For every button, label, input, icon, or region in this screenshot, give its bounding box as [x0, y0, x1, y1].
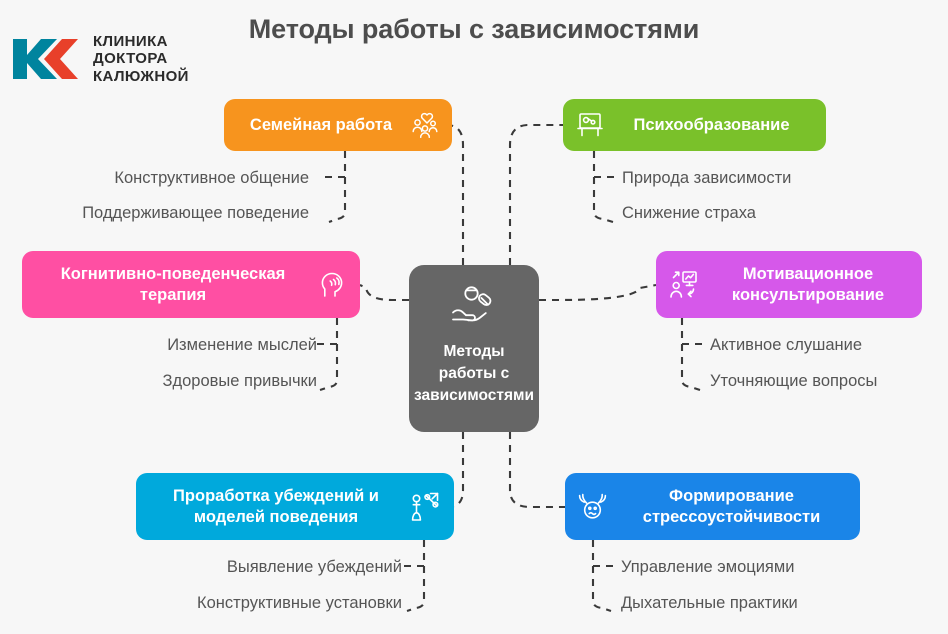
branch-label-cbt: Когнитивно-поведенческая терапия [34, 264, 312, 304]
branch-node-cbt[interactable]: Когнитивно-поведенческая терапия [22, 251, 360, 318]
branch-node-psychoeducation[interactable]: Психообразование [563, 99, 826, 151]
hand-with-pills-icon [447, 285, 501, 329]
presentation-board-icon [575, 110, 605, 140]
sub-item-family-1: Поддерживающее поведение [82, 205, 309, 222]
branch-label-psychoeducation: Психообразование [609, 115, 814, 135]
branch-node-stress[interactable]: Формирование стрессоустойчивости [565, 473, 860, 540]
sub-item-cbt-1: Здоровые привычки [163, 373, 318, 390]
center-node-label: Методы работы с зависимостями [408, 341, 540, 407]
logo-line-1: КЛИНИКА [93, 33, 189, 50]
stressed-face-icon [577, 490, 611, 524]
branch-label-family: Семейная работа [236, 115, 406, 135]
sub-item-family-0: Конструктивное общение [114, 170, 309, 187]
sub-item-motivation-1: Уточняющие вопросы [710, 373, 877, 390]
center-node[interactable]: Методы работы с зависимостями [409, 265, 539, 432]
sub-item-cbt-0: Изменение мыслей [167, 337, 317, 354]
branch-node-beliefs[interactable]: Проработка убеждений и моделей поведения [136, 473, 454, 540]
sub-item-psychoeducation-0: Природа зависимости [622, 170, 791, 187]
clinic-logo: КЛИНИКА ДОКТОРА КАЛЮЖНОЙ [10, 28, 200, 90]
sub-item-psychoeducation-1: Снижение страха [622, 205, 756, 222]
branch-label-stress: Формирование стрессоустойчивости [615, 486, 848, 526]
family-heart-icon [410, 110, 440, 140]
person-growth-chart-icon [668, 268, 702, 302]
branch-node-family[interactable]: Семейная работа [224, 99, 452, 151]
infographic-canvas: КЛИНИКА ДОКТОРА КАЛЮЖНОЙ Методы работы с… [0, 0, 948, 634]
logo-line-2: ДОКТОРА [93, 50, 189, 67]
logo-mark-icon [10, 33, 84, 85]
person-percent-arrow-icon [408, 490, 442, 524]
sub-item-beliefs-0: Выявление убеждений [227, 559, 402, 576]
sub-item-stress-1: Дыхательные практики [621, 595, 798, 612]
branch-label-motivation: Мотивационное консультирование [706, 264, 910, 304]
head-thought-icon [316, 269, 348, 301]
sub-item-motivation-0: Активное слушание [710, 337, 862, 354]
logo-wordmark: КЛИНИКА ДОКТОРА КАЛЮЖНОЙ [93, 33, 189, 85]
sub-item-stress-0: Управление эмоциями [621, 559, 794, 576]
branch-node-motivation[interactable]: Мотивационное консультирование [656, 251, 922, 318]
page-title: Методы работы с зависимостями [214, 14, 734, 45]
branch-label-beliefs: Проработка убеждений и моделей поведения [148, 486, 404, 526]
sub-item-beliefs-1: Конструктивные установки [197, 595, 402, 612]
logo-line-3: КАЛЮЖНОЙ [93, 68, 189, 85]
